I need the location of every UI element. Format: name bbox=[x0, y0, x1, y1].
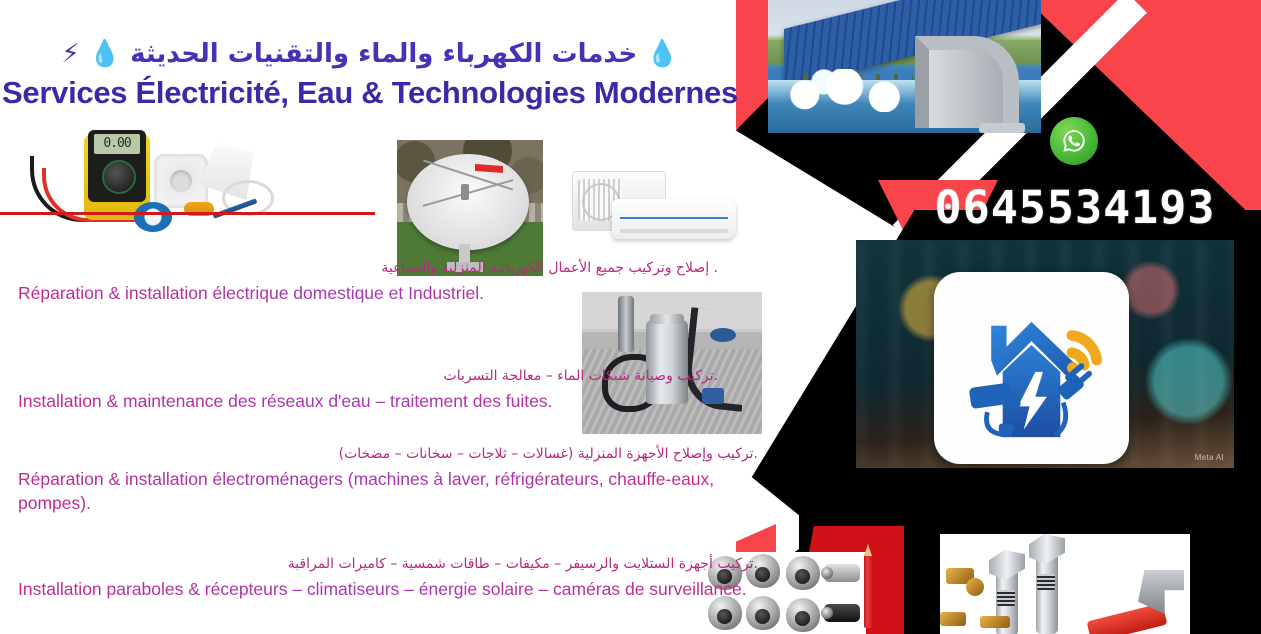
ptz-camera-1 bbox=[786, 556, 820, 590]
service-french-text: Installation paraboles & récepteurs – cl… bbox=[18, 578, 758, 602]
service-arabic-text: .تركيب وصيانة شبكات الماء – معالجة التسر… bbox=[18, 366, 718, 387]
whatsapp-icon[interactable] bbox=[1050, 117, 1098, 165]
ac-indoor-unit bbox=[612, 199, 736, 239]
screwdriver-icon bbox=[184, 194, 258, 224]
multimeter-dial bbox=[102, 160, 136, 194]
service-item-water: .تركيب وصيانة شبكات الماء – معالجة التسر… bbox=[18, 366, 718, 414]
dish-lnb bbox=[461, 184, 469, 200]
watermark: Meta AI bbox=[1195, 453, 1224, 462]
phone-number[interactable]: 0645534193 bbox=[900, 185, 1250, 230]
brass-fitting-2 bbox=[966, 578, 984, 596]
header-block: 💧 خدمات الكهرباء والماء والتقنيات الحديث… bbox=[0, 38, 740, 111]
satellite-dish-image bbox=[397, 140, 543, 276]
service-arabic-text: .تركيب أجهزة الستلايت والرسيفر – مكيفات … bbox=[18, 554, 758, 575]
air-conditioner-image bbox=[562, 165, 740, 255]
water-pump-image bbox=[580, 290, 764, 436]
adjustable-wrench-1 bbox=[1036, 550, 1058, 634]
water-foam bbox=[773, 69, 931, 112]
bullet-camera-2 bbox=[824, 604, 860, 622]
lightning-bolt-icon: ⚡ bbox=[61, 39, 79, 69]
brass-fitting-4 bbox=[980, 616, 1010, 628]
flyer-canvas: 💧 خدمات الكهرباء والماء والتقنيات الحديث… bbox=[0, 0, 1261, 634]
arabic-title: 💧 خدمات الكهرباء والماء والتقنيات الحديث… bbox=[0, 38, 740, 71]
multimeter-tools-image: 0.00 bbox=[24, 128, 286, 236]
service-item-appliances: .تركيب وإصلاح الأجهزة المنزلية (غسالات –… bbox=[18, 444, 758, 515]
bullet-camera-1 bbox=[824, 564, 860, 582]
water-drop-icon-right: 💧 bbox=[89, 39, 121, 69]
pipe-wrench bbox=[1088, 570, 1180, 634]
ptz-camera-2 bbox=[786, 598, 820, 632]
solar-water-image bbox=[768, 0, 1041, 133]
service-item-satellite-solar: .تركيب أجهزة الستلايت والرسيفر – مكيفات … bbox=[18, 554, 758, 602]
multimeter-display: 0.00 bbox=[94, 134, 140, 154]
dish-reflector bbox=[407, 154, 529, 250]
smart-home-logo bbox=[934, 272, 1129, 464]
ac-vent bbox=[620, 229, 728, 233]
plumbing-tools-image bbox=[940, 534, 1190, 634]
pump-cap bbox=[650, 314, 684, 324]
service-french-text: Installation & maintenance des réseaux d… bbox=[18, 390, 718, 414]
service-french-text: Réparation & installation électroménager… bbox=[18, 468, 758, 515]
arabic-title-text: خدمات الكهرباء والماء والتقنيات الحديثة bbox=[130, 39, 637, 69]
insulation-tape bbox=[134, 202, 172, 232]
water-pipe-flange bbox=[979, 123, 1025, 133]
brass-fitting-3 bbox=[940, 612, 966, 626]
pump-blue-fitting-top bbox=[710, 328, 736, 342]
service-french-text: Réparation & installation électrique dom… bbox=[18, 282, 718, 306]
page-title: Services Électricité, Eau & Technologies… bbox=[0, 75, 740, 111]
red-pencil-accent bbox=[864, 554, 872, 628]
service-arabic-text: .تركيب وإصلاح الأجهزة المنزلية (غسالات –… bbox=[18, 444, 758, 465]
screwdriver-shaft bbox=[213, 198, 258, 218]
ac-blue-stripe bbox=[620, 217, 728, 219]
water-drop-icon-left: 💧 bbox=[646, 39, 678, 69]
red-divider-rule bbox=[0, 212, 375, 215]
service-item-electrical: . إصلاح وتركيب جميع الأعمال الكهربائية ا… bbox=[18, 258, 718, 306]
water-pipe bbox=[915, 36, 1019, 128]
service-arabic-text: . إصلاح وتركيب جميع الأعمال الكهربائية ا… bbox=[18, 258, 718, 279]
